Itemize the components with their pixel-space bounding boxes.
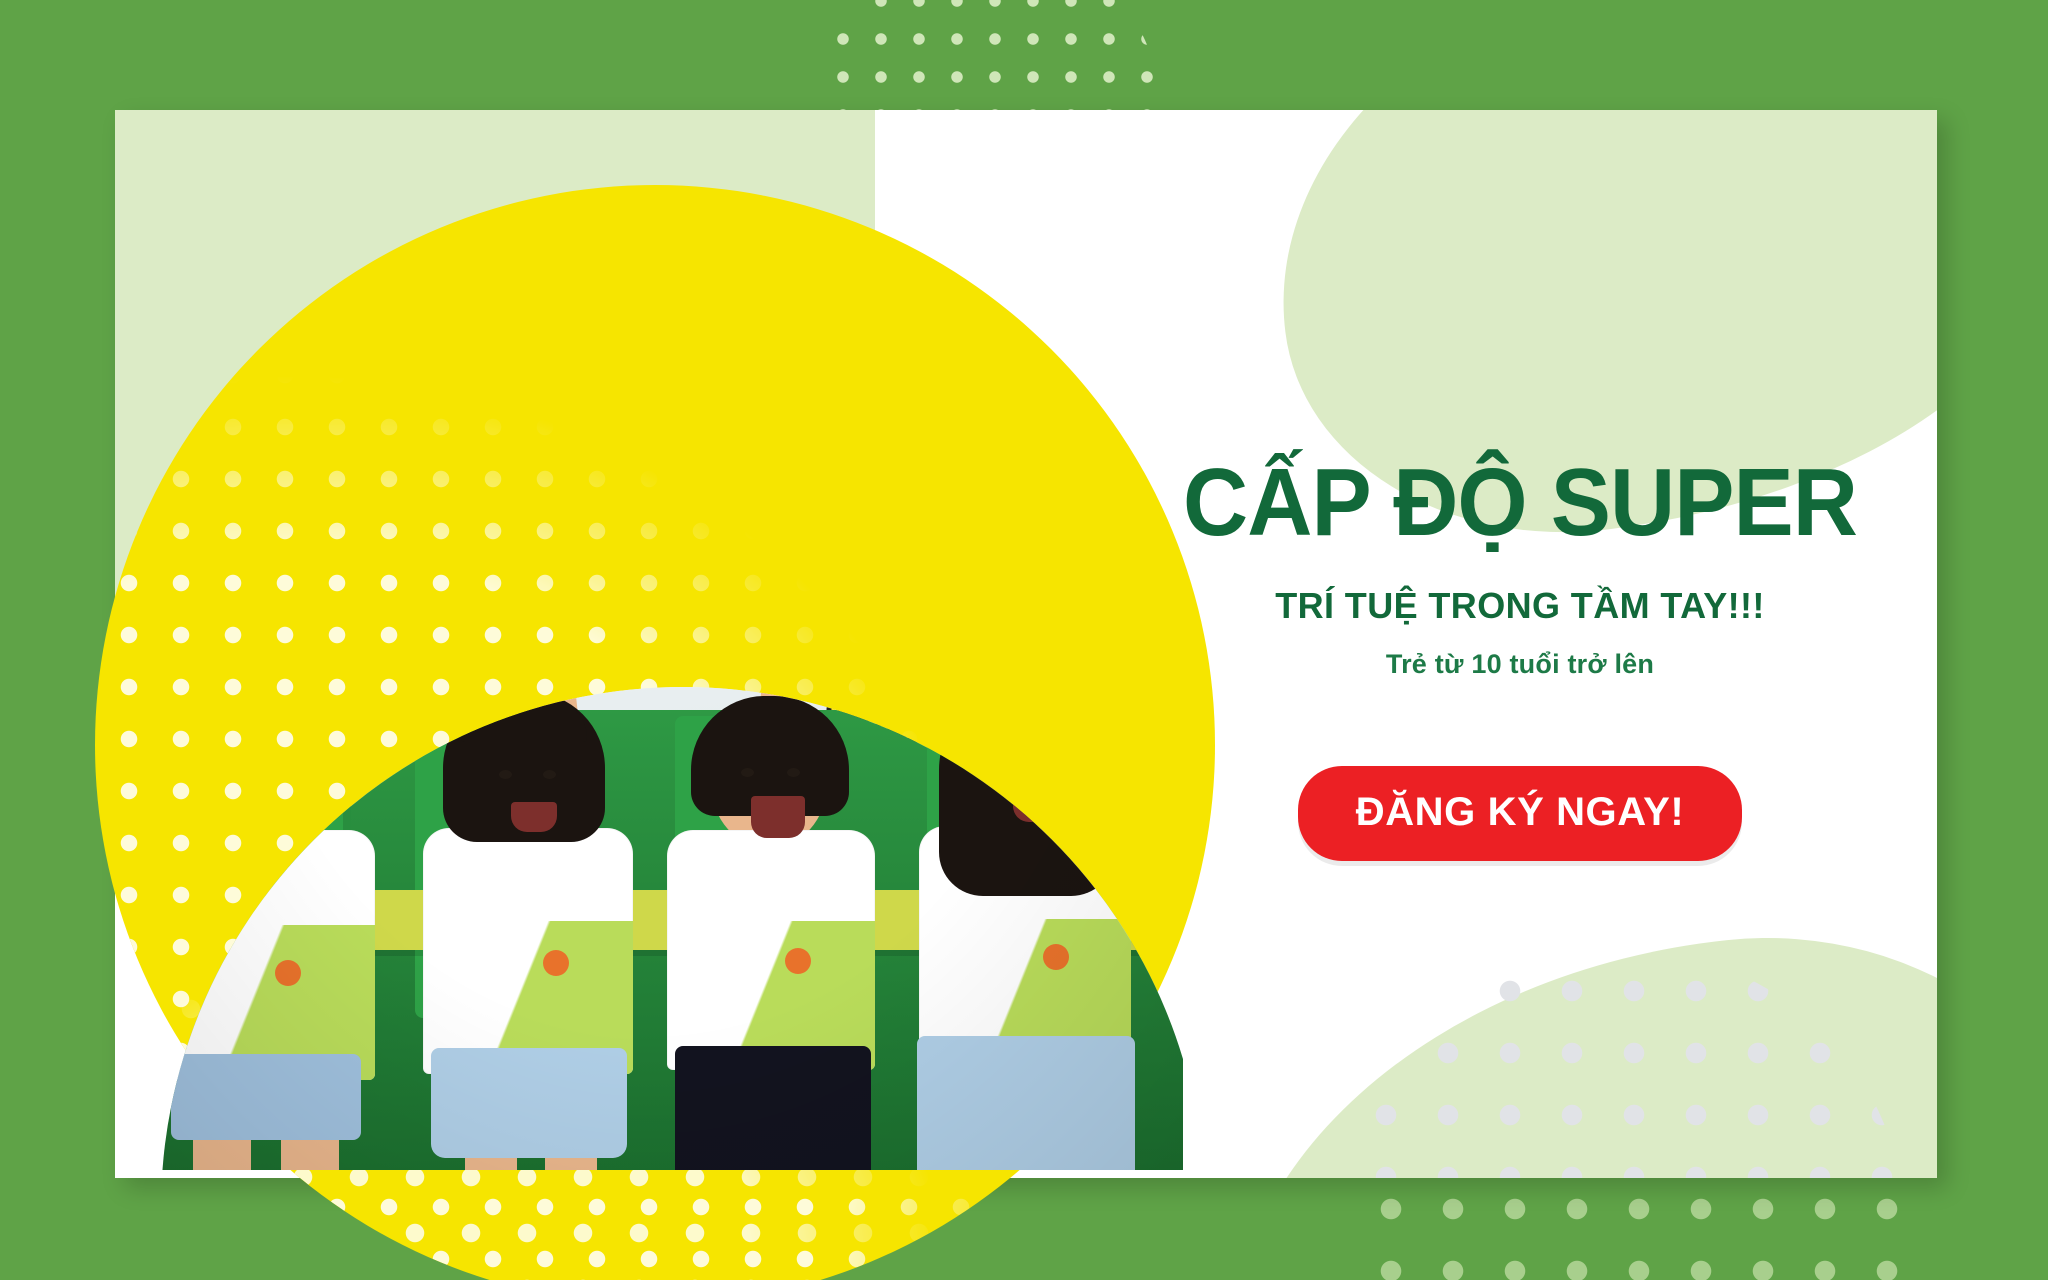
tagline: TRÍ TUỆ TRONG TẦM TAY!!! xyxy=(1140,585,1900,627)
page-title: CẤP ĐỘ SUPER xyxy=(1163,455,1877,551)
register-now-button[interactable]: ĐĂNG KÝ NGAY! xyxy=(1298,766,1743,861)
copy-block: CẤP ĐỘ SUPER TRÍ TUỆ TRONG TẦM TAY!!! Tr… xyxy=(1140,455,1900,861)
age-requirement-note: Trẻ từ 10 tuổi trở lên xyxy=(1140,649,1900,680)
banner-canvas: Su xyxy=(0,0,2048,1280)
